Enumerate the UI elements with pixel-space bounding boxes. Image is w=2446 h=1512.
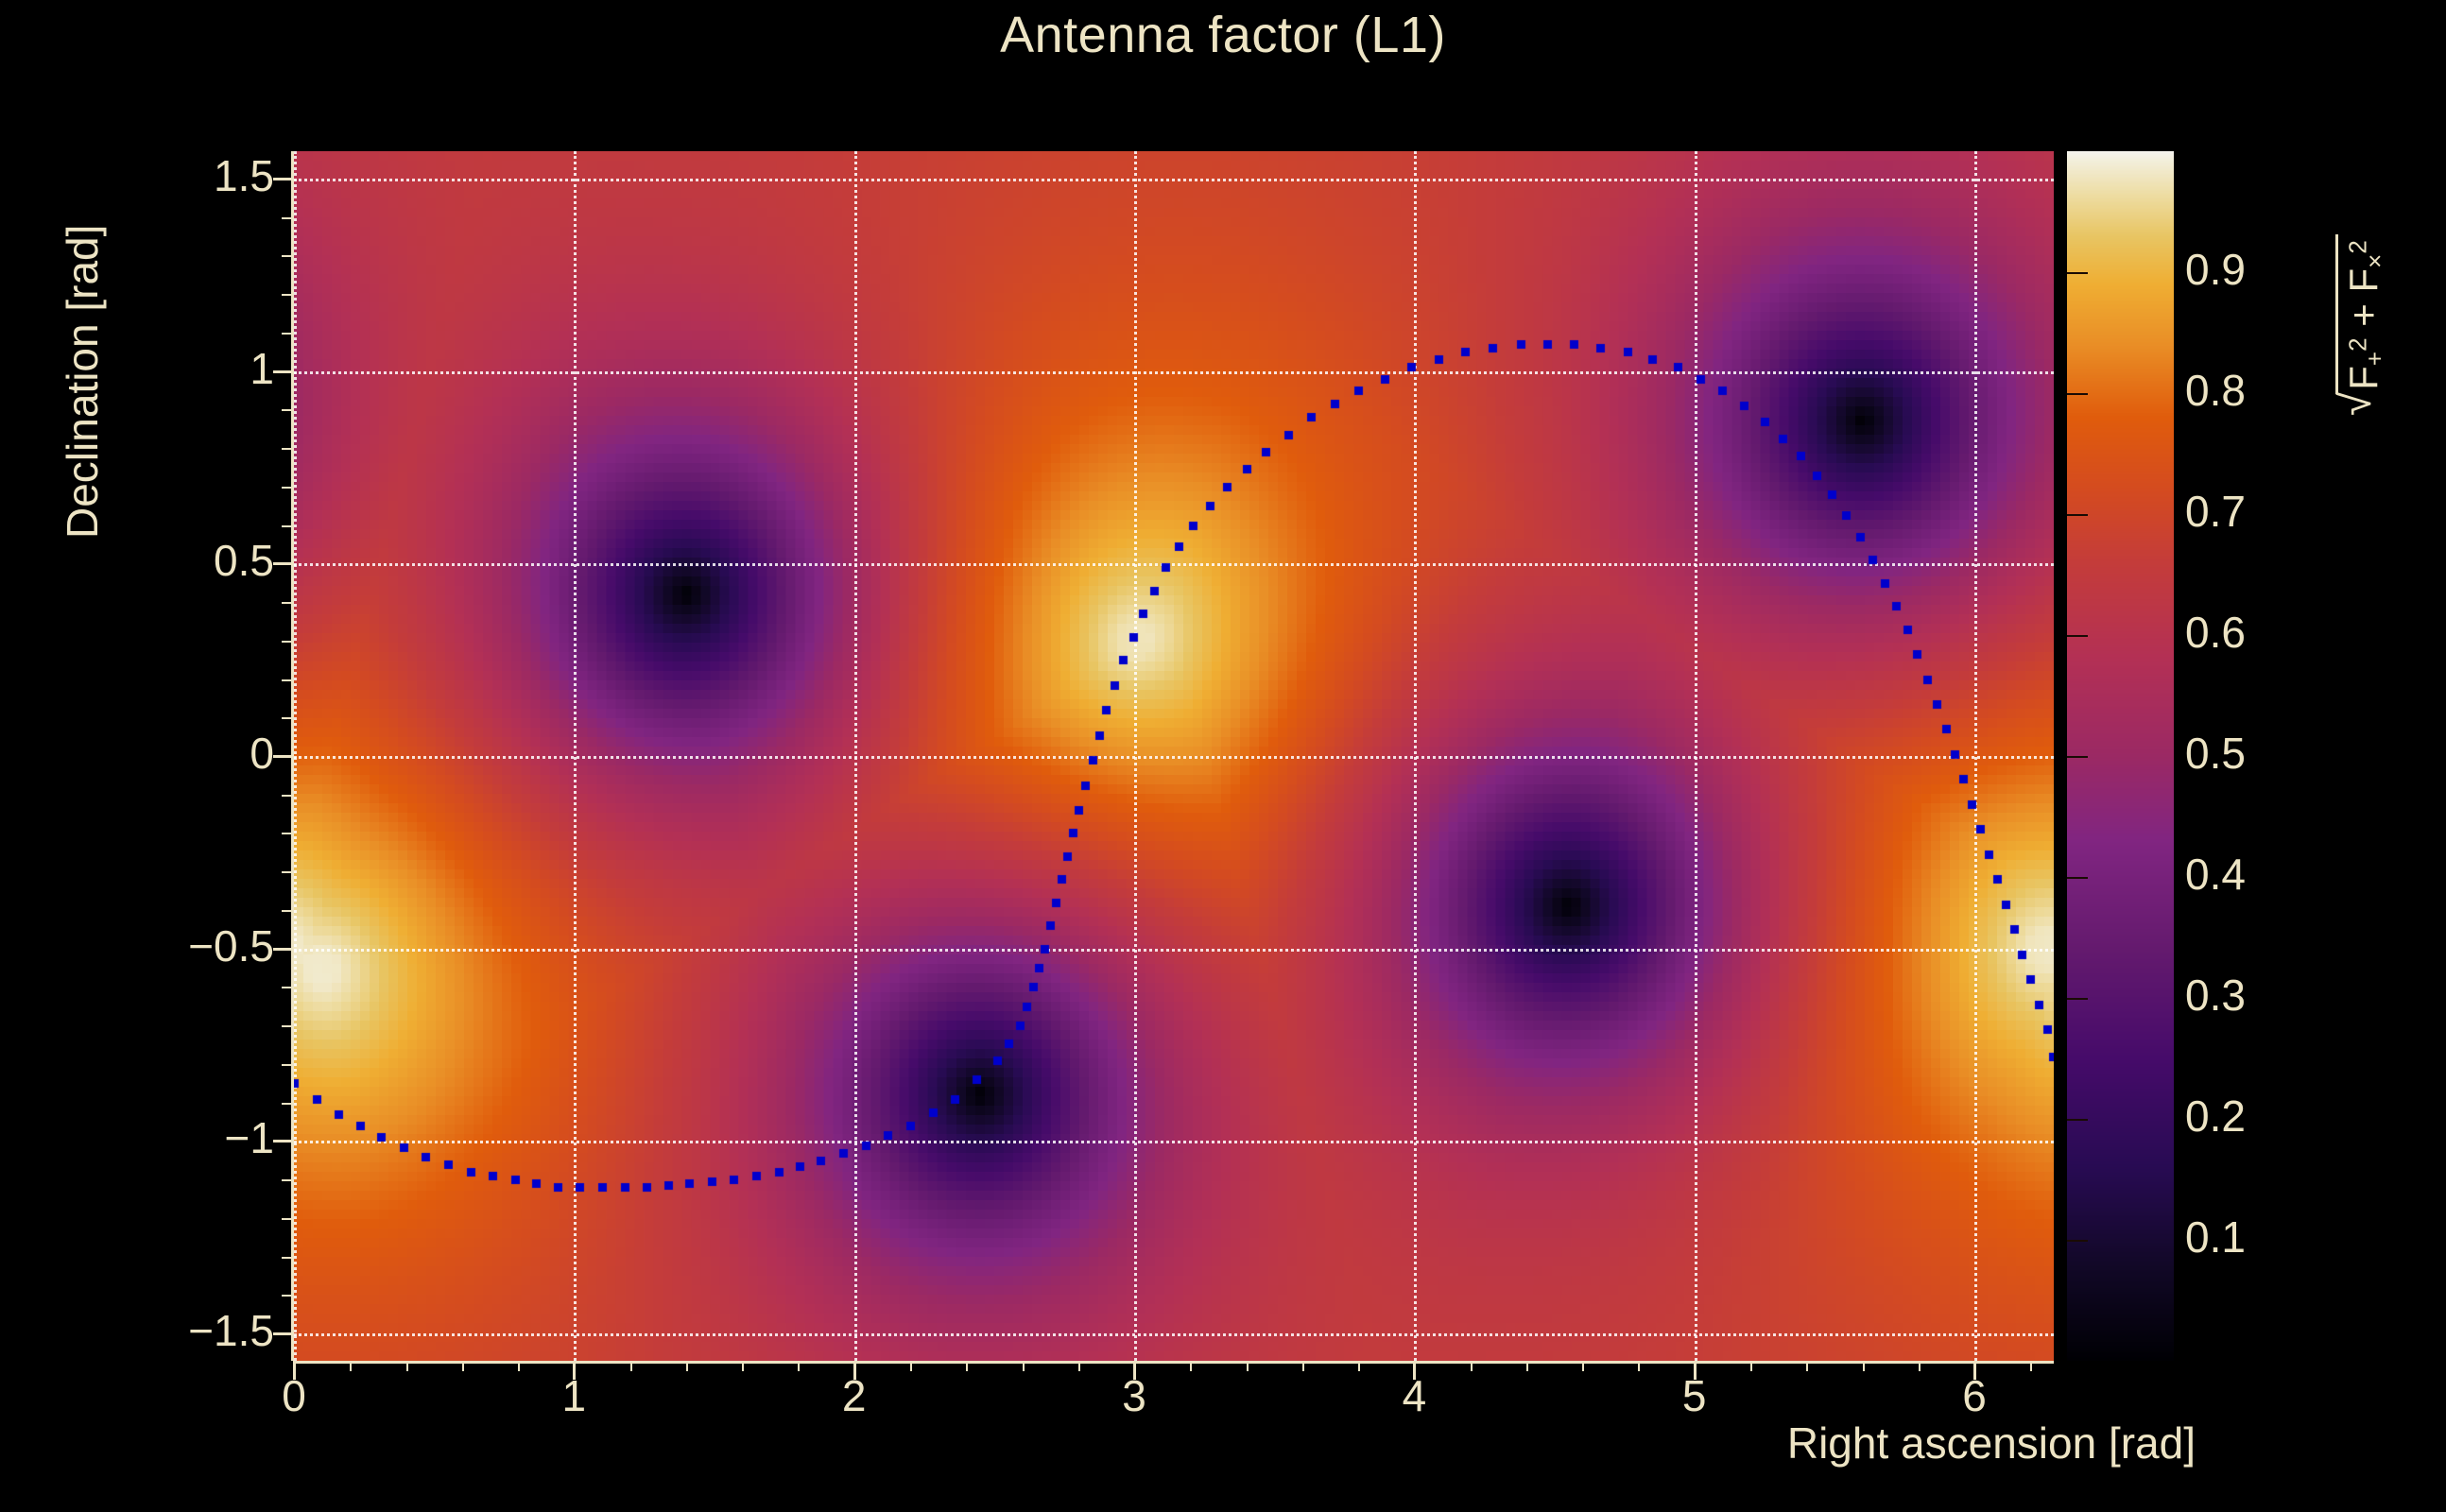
y-axis-tick-label: 0.5 bbox=[85, 535, 274, 586]
y-axis-tick-minor bbox=[282, 448, 294, 450]
x-axis-tick-minor bbox=[462, 1361, 464, 1371]
x-axis-tick-minor bbox=[742, 1361, 744, 1371]
y-axis-tick-major bbox=[273, 1140, 294, 1143]
colorbar-gradient bbox=[2067, 151, 2174, 1361]
y-axis-tick-major bbox=[273, 948, 294, 951]
y-axis-tick-minor bbox=[282, 679, 294, 681]
z-axis-title: √ F+2 + F×2 bbox=[2334, 0, 2387, 132]
y-axis-tick-label: −1 bbox=[85, 1112, 274, 1163]
y-axis-tick-major bbox=[273, 370, 294, 373]
x-axis-tick-label: 5 bbox=[1638, 1370, 1751, 1421]
radical-icon: √ bbox=[2335, 392, 2387, 416]
x-axis-tick-minor bbox=[1806, 1361, 1808, 1371]
x-axis-tick-minor bbox=[1526, 1361, 1528, 1371]
y-axis-tick-minor bbox=[282, 294, 294, 296]
x-axis-tick-minor bbox=[966, 1361, 968, 1371]
x-axis-tick-minor bbox=[406, 1361, 408, 1371]
colorbar-tick-label: 0.5 bbox=[2185, 728, 2246, 779]
colorbar-tick-label: 0.9 bbox=[2185, 244, 2246, 295]
y-axis-tick-label: 1.5 bbox=[85, 150, 274, 201]
y-axis-tick-minor bbox=[282, 910, 294, 912]
x-axis-tick-label: 3 bbox=[1077, 1370, 1191, 1421]
x-axis-tick-label: 1 bbox=[517, 1370, 630, 1421]
y-axis-tick-minor bbox=[282, 871, 294, 873]
y-axis-title-text: Declination [rad] bbox=[57, 225, 108, 539]
colorbar-tick-label: 0.6 bbox=[2185, 607, 2246, 658]
x-axis-line bbox=[294, 1361, 2054, 1364]
radicand: F+2 + F×2 bbox=[2335, 234, 2387, 394]
y-axis-tick-minor bbox=[282, 1257, 294, 1259]
x-axis-tick-label: 2 bbox=[798, 1370, 911, 1421]
colorbar-tick-label: 0.3 bbox=[2185, 970, 2246, 1021]
y-axis-tick-label: 1 bbox=[85, 343, 274, 394]
y-axis-tick-label: −1.5 bbox=[85, 1305, 274, 1356]
y-axis-tick-minor bbox=[282, 1103, 294, 1105]
heatmap-image bbox=[294, 151, 2054, 1361]
z-axis-title-text: √ F+2 + F×2 bbox=[2334, 234, 2387, 416]
plus-operator: + bbox=[2341, 303, 2386, 327]
root-canvas: Antenna factor (L1) 0123456 1.510.50−0.5… bbox=[0, 0, 2446, 1512]
y-axis-tick-minor bbox=[282, 1295, 294, 1297]
y-axis-tick-minor bbox=[282, 217, 294, 219]
x-axis-tick-minor bbox=[1023, 1361, 1025, 1371]
y-axis-tick-major bbox=[273, 562, 294, 565]
y-axis-tick-minor bbox=[282, 255, 294, 257]
x-axis-tick-label: 6 bbox=[1918, 1370, 2031, 1421]
x-axis-tick-label: 4 bbox=[1357, 1370, 1471, 1421]
y-axis-tick-minor bbox=[282, 795, 294, 797]
y-axis-tick-major bbox=[273, 178, 294, 180]
y-axis-tick-minor bbox=[282, 1025, 294, 1027]
y-axis-tick-minor bbox=[282, 641, 294, 643]
y-axis-tick-labels: 1.510.50−0.5−1−1.5 bbox=[95, 0, 274, 1512]
x-axis-title: Right ascension [rad] bbox=[1787, 1417, 2196, 1469]
y-axis-tick-minor bbox=[282, 333, 294, 335]
y-axis-tick-minor bbox=[282, 1179, 294, 1181]
y-axis-tick-minor bbox=[282, 717, 294, 719]
y-axis-tick-minor bbox=[282, 602, 294, 604]
colorbar-tick-label: 0.1 bbox=[2185, 1211, 2246, 1263]
f-cross-exponent: 2 bbox=[2343, 240, 2371, 253]
f-plus-exponent: 2 bbox=[2343, 337, 2371, 351]
plot-area[interactable] bbox=[294, 151, 2054, 1361]
heatmap-canvas bbox=[294, 151, 2054, 1361]
f-cross-subscript: × bbox=[2361, 254, 2389, 268]
y-axis-tick-major bbox=[273, 755, 294, 758]
y-axis-title: Declination [rad] bbox=[57, 0, 108, 142]
y-axis-tick-minor bbox=[282, 987, 294, 988]
x-axis-tick-minor bbox=[1247, 1361, 1249, 1371]
x-axis-tick-minor bbox=[686, 1361, 688, 1371]
page-title: Antenna factor (L1) bbox=[0, 6, 2446, 64]
x-axis-tick-minor bbox=[1863, 1361, 1865, 1371]
y-axis-tick-minor bbox=[282, 487, 294, 489]
y-axis-tick-label: −0.5 bbox=[85, 920, 274, 971]
y-axis-tick-major bbox=[273, 1332, 294, 1335]
f-plus-subscript: + bbox=[2361, 352, 2389, 366]
y-axis-tick-minor bbox=[282, 1218, 294, 1220]
y-axis-tick-minor bbox=[282, 525, 294, 527]
x-axis-tick-minor bbox=[1582, 1361, 1584, 1371]
x-axis-tick-minor bbox=[1302, 1361, 1304, 1371]
colorbar-tick-label: 0.4 bbox=[2185, 849, 2246, 900]
f-cross-term: F bbox=[2341, 268, 2386, 293]
colorbar-tick-label: 0.7 bbox=[2185, 486, 2246, 537]
y-axis-tick-label: 0 bbox=[85, 728, 274, 779]
colorbar-tick-label: 0.2 bbox=[2185, 1091, 2246, 1142]
f-plus-term: F bbox=[2341, 366, 2386, 390]
colorbar-tick-label: 0.8 bbox=[2185, 365, 2246, 416]
y-axis-tick-minor bbox=[282, 409, 294, 411]
sqrt-expression: √ F+2 + F×2 bbox=[2335, 234, 2387, 416]
y-axis-tick-minor bbox=[282, 1064, 294, 1066]
colorbar[interactable] bbox=[2067, 151, 2174, 1361]
y-axis-tick-minor bbox=[282, 833, 294, 834]
